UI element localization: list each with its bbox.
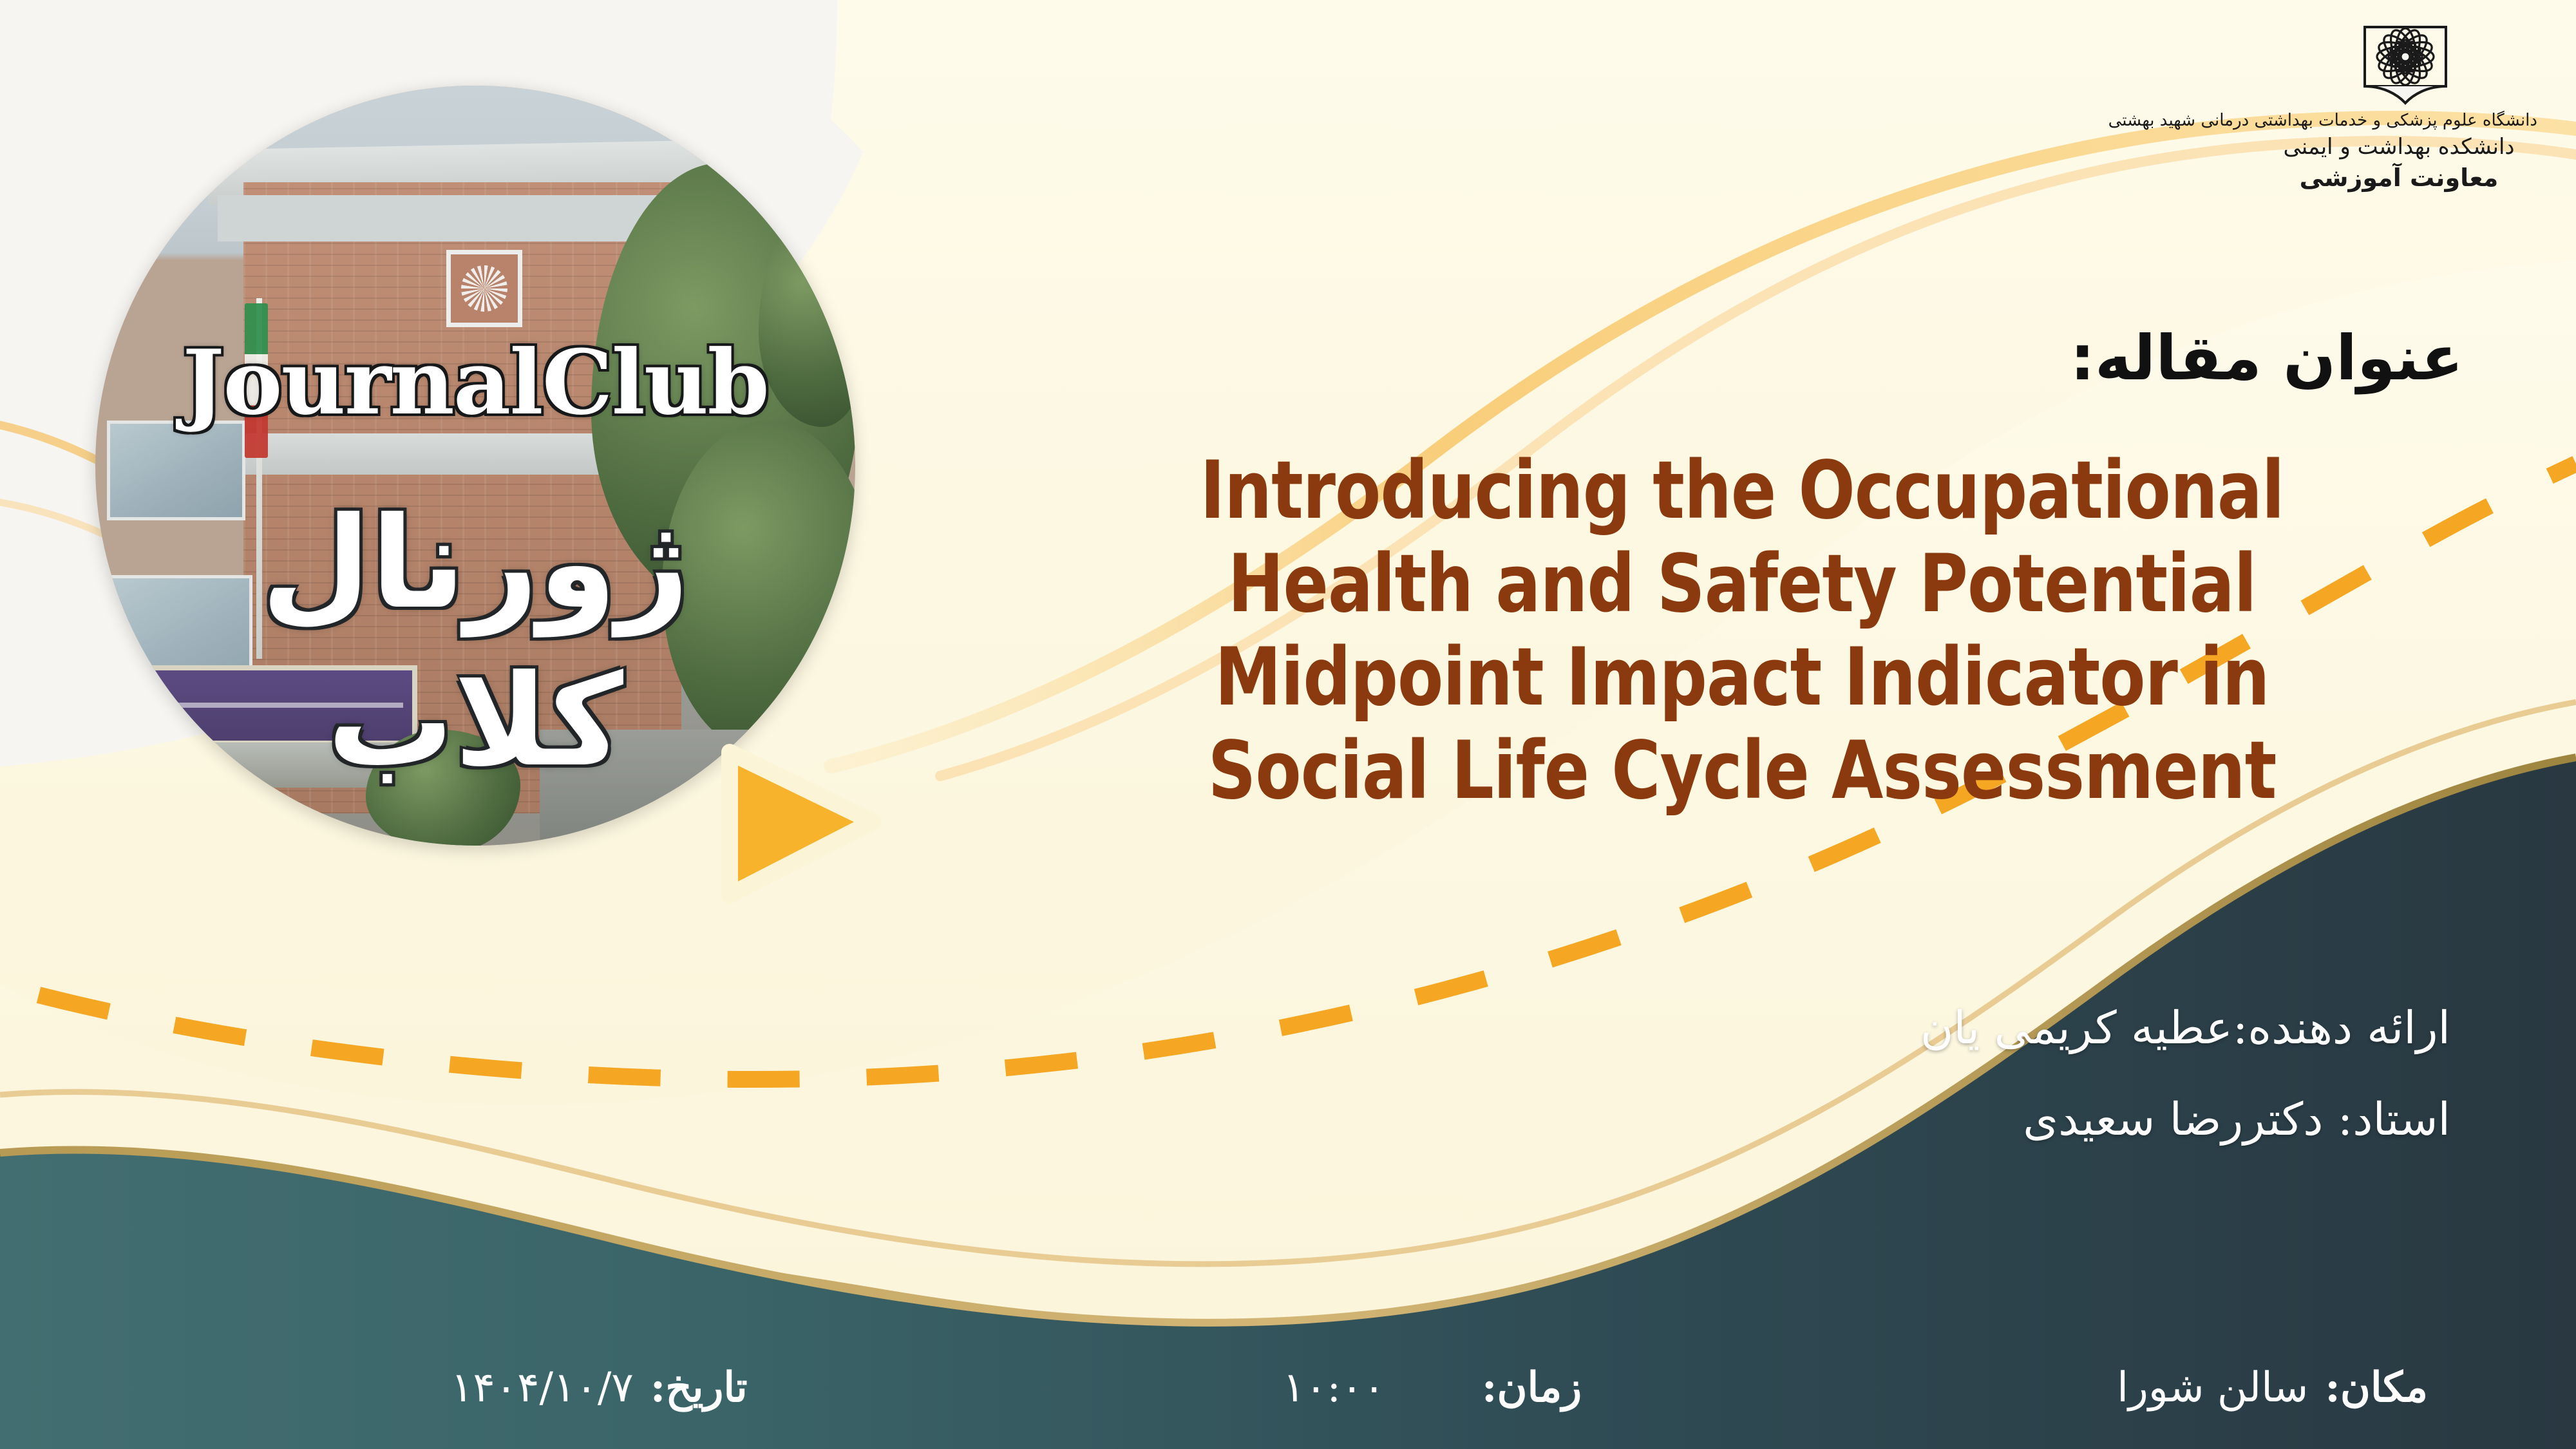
footer-bar: تاریخ: ۱۴۰۴/۱۰/۷ زمان: ۱۰:۰۰ مکان: سالن … <box>0 1363 2576 1412</box>
paper-title-line: Midpoint Impact Indicator in <box>1056 631 2428 724</box>
facade-emblem-icon <box>446 250 522 327</box>
footer-date-value: ۱۴۰۴/۱۰/۷ <box>451 1364 634 1412</box>
play-triangle-icon[interactable] <box>704 734 897 914</box>
university-logo: دانشگاه علوم پزشکی و خدمات بهداشتی درمان… <box>2260 13 2537 225</box>
footer-date-label: تاریخ: <box>650 1363 748 1412</box>
journal-club-photo: JournalClub ژورنال کلاب <box>95 86 855 846</box>
paper-title-line: Health and Safety Potential <box>1056 538 2428 631</box>
play-button[interactable] <box>704 734 897 914</box>
footer-place-label: مکان: <box>2325 1363 2428 1412</box>
presenter-line: ارائه دهنده:عطیه کریمی یان <box>1549 1005 2450 1052</box>
logo-line-university: دانشگاه علوم پزشکی و خدمات بهداشتی درمان… <box>2260 111 2537 130</box>
logo-line-faculty: دانشکده بهداشت و ایمنی <box>2260 134 2537 160</box>
footer-date: تاریخ: ۱۴۰۴/۱۰/۷ <box>451 1363 748 1412</box>
people-block: ارائه دهنده:عطیه کریمی یان استاد: دکتررض… <box>1549 1005 2450 1143</box>
logo-line-deputy: معاونت آموزشی <box>2260 164 2537 192</box>
footer-place: مکان: سالن شورا <box>2117 1363 2428 1412</box>
paper-title-line: Introducing the Occupational <box>1056 444 2428 538</box>
footer-place-value: سالن شورا <box>2117 1364 2308 1412</box>
paper-title: Introducing the Occupational Health and … <box>1056 444 2428 818</box>
poster-slide: دانشگاه علوم پزشکی و خدمات بهداشتی درمان… <box>0 0 2576 1449</box>
footer-time-label: زمان: <box>1482 1363 1582 1412</box>
paper-title-line: Social Life Cycle Assessment <box>1056 724 2428 818</box>
supervisor-line: استاد: دکتررضا سعیدی <box>1549 1096 2450 1144</box>
journal-club-title-en: JournalClub <box>95 338 855 427</box>
footer-time-value: ۱۰:۰۰ <box>1283 1364 1385 1412</box>
page-title-label: عنوان مقاله: <box>2070 322 2463 394</box>
footer-time: زمان: ۱۰:۰۰ <box>1283 1363 1582 1412</box>
university-emblem-icon <box>2338 13 2460 109</box>
